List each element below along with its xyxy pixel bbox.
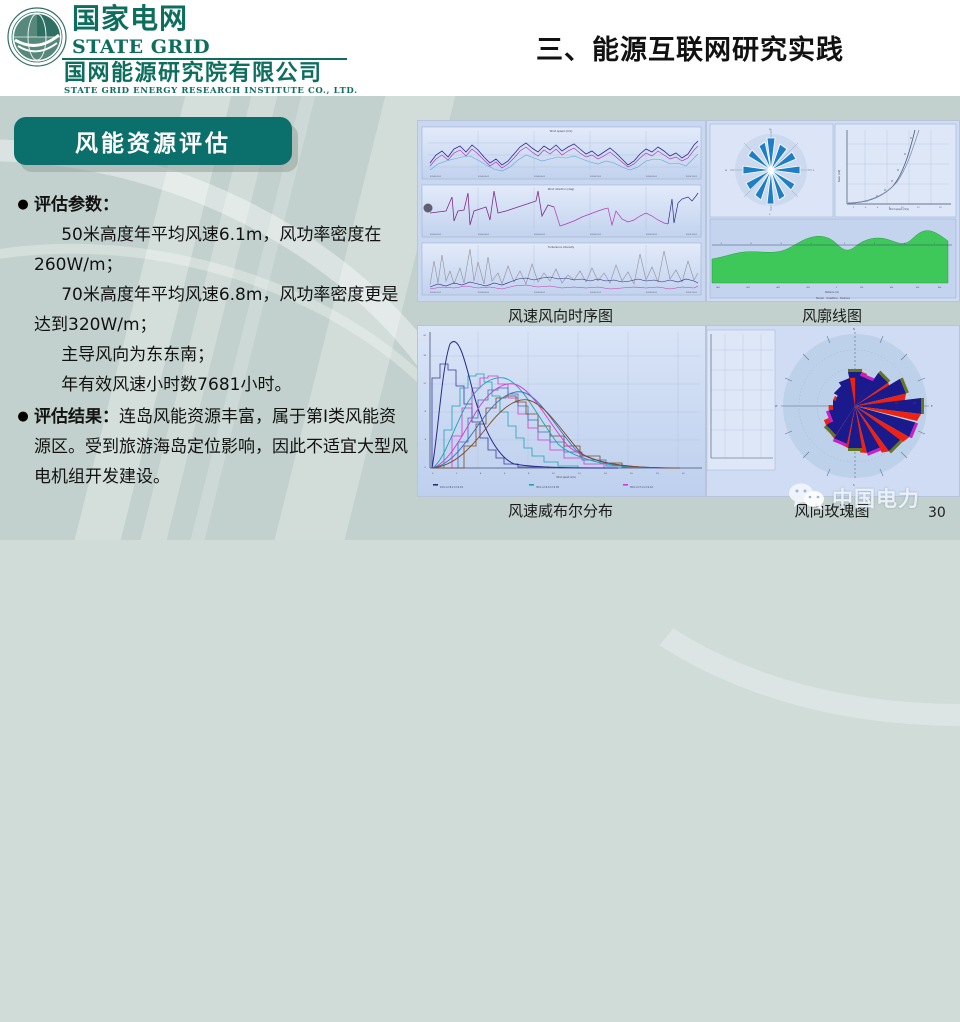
svg-text:1: 1 <box>844 243 845 245</box>
svg-text:0: 0 <box>836 287 837 289</box>
block-lead: 评估结果： <box>34 407 119 427</box>
bullet-block: ● 评估结果：连岛风能资源丰富，属于第I类风能资源区。受到旅游海岛定位影响，因此… <box>12 402 412 492</box>
svg-text:2014-01-01: 2014-01-01 <box>430 234 442 236</box>
svg-text:-400: -400 <box>776 287 780 289</box>
svg-text:Wind direction (deg): Wind direction (deg) <box>548 187 574 191</box>
state-grid-globe-icon <box>6 6 68 68</box>
header-divider <box>62 58 347 60</box>
windrose-chart: NESW 102030 <box>707 326 959 496</box>
svg-text:N: N <box>853 328 855 331</box>
watermark-label: 中国电力 <box>832 483 920 513</box>
block-line: 年有效风速小时数7681小时。 <box>34 370 412 400</box>
wechat-icon <box>788 482 828 514</box>
svg-text:400: 400 <box>890 287 893 289</box>
profile-terrain: -7-5-3 -113 57 -800-600-400 -2000200 400… <box>710 219 956 298</box>
svg-text:W: W <box>725 170 727 172</box>
timeseries-chart: Wind speed (m/s) 2014-01-012014-03-01 20… <box>418 121 705 301</box>
svg-text:20: 20 <box>895 402 899 405</box>
svg-text:-5: -5 <box>750 243 752 245</box>
svg-text:2014-09-01: 2014-09-01 <box>646 234 658 236</box>
svg-text:2014-12-01: 2014-12-01 <box>686 176 698 178</box>
bullet-marker: ● <box>12 402 34 492</box>
weibull-chart: 2016 128 40 024 6810 121416 1820 Wind sp… <box>418 326 705 496</box>
institute-name-en: STATE GRID ENERGY RESEARCH INSTITUTE CO.… <box>64 86 358 96</box>
svg-text:2014-01-01: 2014-01-01 <box>430 176 442 178</box>
content-body: ● 评估参数： 50米高度年平均风速6.1m，风功率密度在260W/m； 70米… <box>12 190 412 494</box>
svg-text:800: 800 <box>938 287 941 289</box>
wechat-watermark: 中国电力 <box>788 482 920 514</box>
svg-text:2014-12-01: 2014-12-01 <box>686 292 698 294</box>
figure-caption: 风廓线图 <box>706 305 958 326</box>
svg-text:Wind speed (m/s): Wind speed (m/s) <box>556 476 575 479</box>
wind-profile-chart: NESW Power (kW) Wind speed (m/s) <box>707 121 959 301</box>
page-title: 三、能源互联网研究实践 <box>420 28 960 67</box>
brand-name-cn: 国家电网 <box>72 4 188 34</box>
svg-text:2014-01-01: 2014-01-01 <box>430 292 442 294</box>
svg-text:-600: -600 <box>746 287 750 289</box>
figure-caption: 风速威布尔分布 <box>417 500 704 521</box>
svg-text:10: 10 <box>875 402 879 405</box>
bullet-block-text: 评估参数： 50米高度年平均风速6.1m，风功率密度在260W/m； 70米高度… <box>34 190 412 400</box>
svg-text:Terrain · Coastline · Onshore: Terrain · Coastline · Onshore <box>816 297 850 300</box>
svg-text:200: 200 <box>860 287 863 289</box>
institute-name-cn: 国网能源研究院有限公司 <box>64 62 323 86</box>
svg-text:2014-03-01: 2014-03-01 <box>478 176 490 178</box>
bullet-marker: ● <box>12 190 34 400</box>
svg-text:2014-09-01: 2014-09-01 <box>646 292 658 294</box>
svg-text:2014-09-01: 2014-09-01 <box>646 176 658 178</box>
section-banner: 风能资源评估 <box>14 117 292 165</box>
svg-text:Distance (m): Distance (m) <box>825 291 839 294</box>
svg-text:-3: -3 <box>780 243 782 245</box>
page-number: 30 <box>928 505 946 521</box>
svg-text:2014-07-01: 2014-07-01 <box>590 234 602 236</box>
block-line: 主导风向为东东南； <box>34 340 412 370</box>
svg-text:-1: -1 <box>810 243 812 245</box>
profile-power-curve: Power (kW) Wind speed (m/s) 246 8101318 <box>835 124 956 217</box>
svg-text:2014-05-01: 2014-05-01 <box>534 234 546 236</box>
svg-text:2014-07-01: 2014-07-01 <box>590 176 602 178</box>
svg-text:30: 30 <box>913 402 917 405</box>
svg-text:2014-03-01: 2014-03-01 <box>478 292 490 294</box>
svg-text:Turbulence intensity: Turbulence intensity <box>548 245 575 249</box>
figure-timeseries: Wind speed (m/s) 2014-01-012014-03-01 20… <box>417 120 706 302</box>
svg-text:5: 5 <box>904 243 905 245</box>
svg-text:-800: -800 <box>716 287 720 289</box>
svg-text:30m A=6.9 k=2.05: 30m A=6.9 k=2.05 <box>536 486 560 489</box>
svg-text:-200: -200 <box>806 287 810 289</box>
block-lead: 评估参数： <box>34 190 412 220</box>
brand-name-en: STATE GRID <box>72 36 210 58</box>
svg-text:Wind speed (m/s): Wind speed (m/s) <box>550 129 573 133</box>
figure-caption: 风速风向时序图 <box>417 305 704 326</box>
svg-text:10m A=6.2 k=2.01: 10m A=6.2 k=2.01 <box>440 486 464 489</box>
section-banner-label: 风能资源评估 <box>75 124 231 158</box>
svg-text:2014-05-01: 2014-05-01 <box>534 292 546 294</box>
figure-windrose: NESW 102030 <box>706 325 960 497</box>
figure-weibull: 2016 128 40 024 6810 121416 1820 Wind sp… <box>417 325 706 497</box>
svg-text:Wind speed (m/s): Wind speed (m/s) <box>889 208 909 211</box>
svg-text:2014-05-01: 2014-05-01 <box>534 176 546 178</box>
bullet-block-text: 评估结果：连岛风能资源丰富，属于第I类风能资源区。受到旅游海岛定位影响，因此不适… <box>34 402 412 492</box>
block-line: 70米高度年平均风速6.8m，风功率密度更是达到320W/m； <box>34 280 412 340</box>
svg-text:2014-03-01: 2014-03-01 <box>478 234 490 236</box>
svg-text:50m A=7.4 k=2.10: 50m A=7.4 k=2.10 <box>630 486 654 489</box>
bullet-block: ● 评估参数： 50米高度年平均风速6.1m，风功率密度在260W/m； 70米… <box>12 190 412 400</box>
slide-header: 国家电网 STATE GRID 国网能源研究院有限公司 STATE GRID E… <box>0 0 960 96</box>
svg-text:2014-12-01: 2014-12-01 <box>686 234 698 236</box>
profile-wind-rose: NESW <box>710 124 833 217</box>
svg-text:3: 3 <box>874 243 875 245</box>
svg-text:7: 7 <box>934 243 935 245</box>
svg-text:-7: -7 <box>720 243 722 245</box>
svg-text:600: 600 <box>916 287 919 289</box>
svg-text:2014-07-01: 2014-07-01 <box>590 292 602 294</box>
block-line: 50米高度年平均风速6.1m，风功率密度在260W/m； <box>34 220 412 280</box>
figure-wind-profile: NESW Power (kW) Wind speed (m/s) <box>706 120 960 302</box>
svg-text:Power (kW): Power (kW) <box>838 170 841 183</box>
